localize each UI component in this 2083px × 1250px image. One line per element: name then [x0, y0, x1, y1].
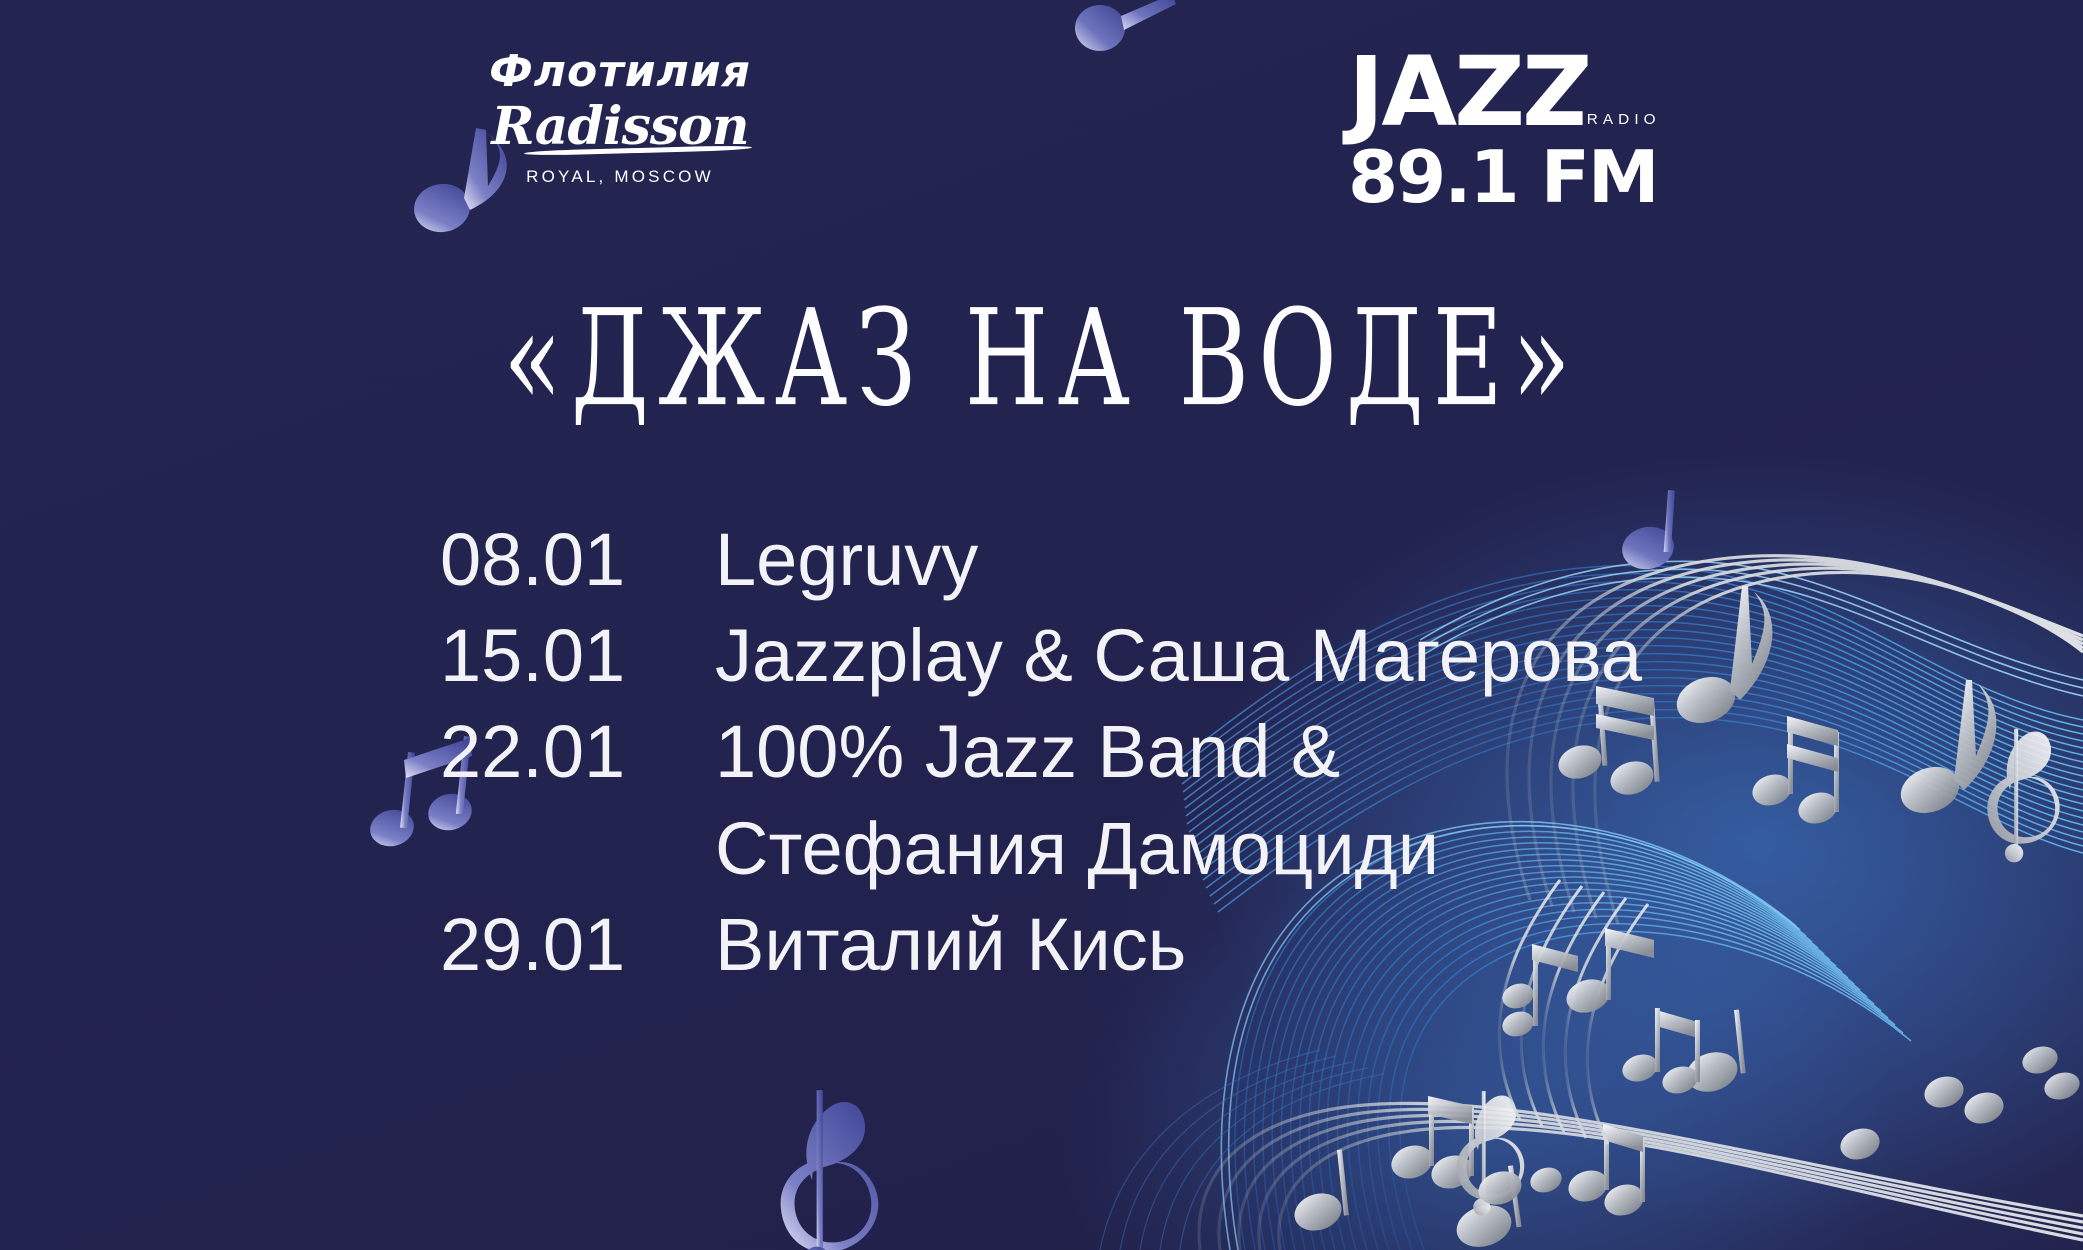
schedule-act: Jazzplay & Саша Магерова — [715, 608, 1642, 704]
schedule-date: 22.01 — [440, 704, 715, 800]
schedule-act-continuation: Стефания Дамоциди — [440, 801, 1642, 897]
treble-clef-bottom-left — [781, 1090, 879, 1250]
eighth-note-top-center — [1075, 0, 1176, 51]
schedule-act: Виталий Кись — [715, 897, 1186, 993]
schedule-date: 08.01 — [440, 512, 715, 608]
schedule-date: 15.01 — [440, 608, 715, 704]
flotilia-radisson-logo: Флотилия Radisson ROYAL, MOSCOW — [470, 50, 770, 187]
schedule-act: 100% Jazz Band & — [715, 704, 1340, 800]
royal-moscow-tagline: ROYAL, MOSCOW — [470, 167, 770, 187]
schedule-act: Legruvy — [715, 512, 978, 608]
page-title: «ДЖАЗ НА ВОДЕ» — [83, 280, 1999, 436]
radisson-wordmark: Radisson — [470, 100, 770, 155]
jazz-radio-subtext: RADIO — [1583, 111, 1662, 129]
schedule-row: 08.01 Legruvy — [440, 512, 1642, 608]
schedule-date: 29.01 — [440, 897, 715, 993]
jazz-wordmark-text: JAZZ — [1348, 36, 1590, 148]
schedule-row: 29.01 Виталий Кись — [440, 897, 1642, 993]
poster-canvas: Флотилия Radisson ROYAL, MOSCOW JAZZ RAD… — [0, 0, 2083, 1250]
flotilia-wordmark: Флотилия — [470, 50, 770, 94]
event-schedule: 08.01 Legruvy 15.01 Jazzplay & Саша Маге… — [440, 512, 1642, 993]
schedule-row: 22.01 100% Jazz Band & — [440, 704, 1642, 800]
schedule-row: 15.01 Jazzplay & Саша Магерова — [440, 608, 1642, 704]
jazz-wordmark: JAZZ RADIO — [1348, 48, 1664, 136]
jazz-radio-logo: JAZZ RADIO 89.1 FM — [1348, 48, 1658, 216]
jazz-frequency: 89.1 FM — [1348, 140, 1658, 216]
